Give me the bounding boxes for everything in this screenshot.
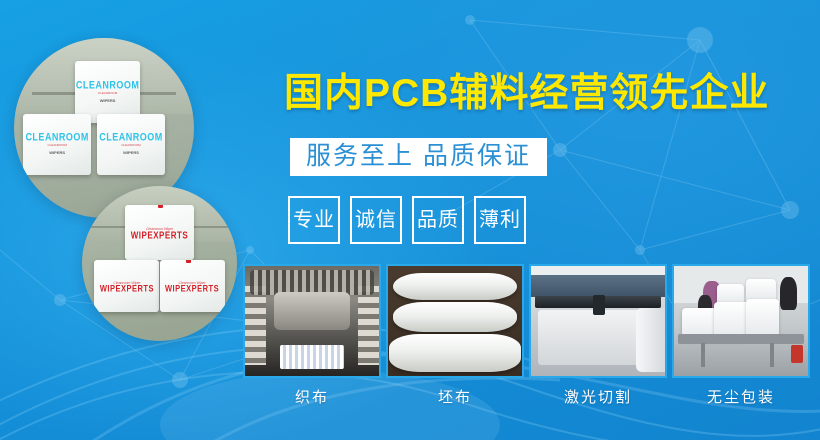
feature-tag-list: 专业 诚信 品质 薄利 xyxy=(288,196,526,244)
fabric-rolls-scene xyxy=(388,266,522,376)
promo-banner: CLEANROOM CLEANROOM WIPERS CLEANROOM CLE… xyxy=(0,0,820,440)
pack-brand-label: WIPEXPERTS xyxy=(131,231,188,241)
pack-sub-label: CLEANROOM xyxy=(98,92,117,96)
pack-sub-label: CLEANROOM xyxy=(48,144,67,148)
feature-tag-quality: 品质 xyxy=(412,196,464,244)
pack-brand-label: WIPEXPERTS xyxy=(100,284,154,293)
process-photo-cleanroom-packing xyxy=(672,264,810,378)
pack-brand-label: CLEANROOM xyxy=(76,80,140,91)
pack-sub-label: CLEANROOM xyxy=(121,144,140,148)
feature-tag-low-margin: 薄利 xyxy=(474,196,526,244)
knitting-machine-scene xyxy=(245,266,379,376)
process-item-weaving: 织布 xyxy=(243,264,381,405)
banner-subtitle: 服务至上 品质保证 xyxy=(306,142,531,170)
banner-subtitle-bar: 服务至上 品质保证 xyxy=(290,138,547,176)
banner-headline: 国内PCB辅料经营领先企业 xyxy=(284,74,769,113)
pack-brand-label: CLEANROOM xyxy=(99,132,163,143)
pack-sub2-label: WIPERS xyxy=(49,150,65,155)
process-photo-weaving xyxy=(243,264,381,378)
wipexperts-scene: Cleanroom Wiper WIPEXPERTS Cleanroom Wip… xyxy=(82,186,237,341)
process-caption-laser-cutting: 激光切割 xyxy=(564,390,632,405)
pack-sub2-label: WIPERS xyxy=(123,150,139,155)
feature-tag-professional: 专业 xyxy=(288,196,340,244)
process-caption-cleanroom-packing: 无尘包装 xyxy=(707,390,775,405)
process-item-greige-fabric: 坯布 xyxy=(386,264,524,405)
product-photo-wipexperts: Cleanroom Wiper WIPEXPERTS Cleanroom Wip… xyxy=(82,186,237,341)
pack-brand-label: WIPEXPERTS xyxy=(165,284,219,293)
process-caption-weaving: 织布 xyxy=(295,390,329,405)
pack-sub2-label: WIPERS xyxy=(100,98,116,103)
process-item-laser-cutting: 激光切割 xyxy=(529,264,667,405)
feature-tag-integrity: 诚信 xyxy=(350,196,402,244)
process-item-cleanroom-packing: 无尘包装 xyxy=(672,264,810,405)
process-photo-laser-cutting xyxy=(529,264,667,378)
pack-brand-label: CLEANROOM xyxy=(25,132,89,143)
process-caption-greige-fabric: 坯布 xyxy=(438,390,472,405)
laser-cutter-scene xyxy=(531,266,665,376)
packing-room-scene xyxy=(674,266,808,376)
process-photo-strip: 织布 坯布 激光切割 xyxy=(243,264,810,405)
process-photo-greige-fabric xyxy=(386,264,524,378)
